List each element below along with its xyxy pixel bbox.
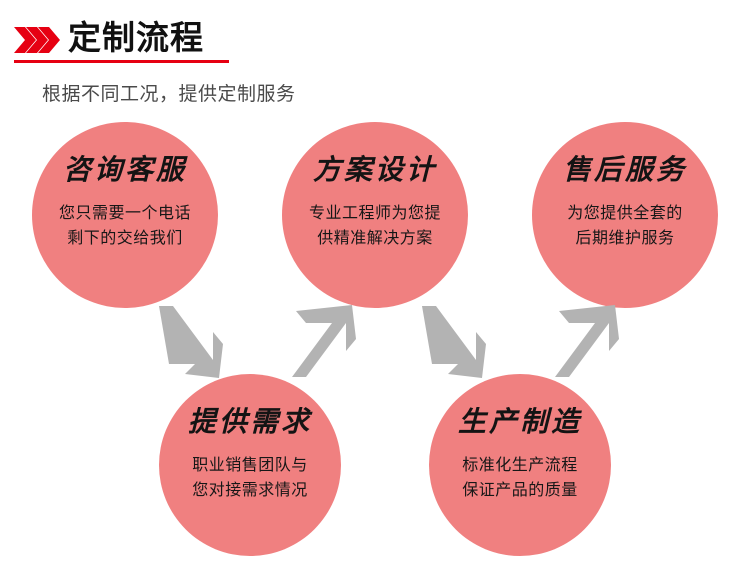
step-desc-line-1: 专业工程师为您提	[309, 200, 441, 225]
step-desc-line-1: 标准化生产流程	[462, 452, 578, 477]
step-desc-line-2: 剩下的交给我们	[67, 225, 183, 250]
title-underline-rule	[14, 60, 229, 63]
flow-step-circle-requirements[interactable]: 提供需求 职业销售团队与 您对接需求情况	[159, 374, 341, 556]
flow-step-circle-design[interactable]: 方案设计 专业工程师为您提 供精准解决方案	[282, 122, 468, 308]
step-title: 售后服务	[563, 154, 687, 186]
step-title: 生产制造	[458, 406, 582, 438]
step-desc-line-2: 后期维护服务	[575, 225, 674, 250]
step-desc-line-2: 保证产品的质量	[462, 477, 578, 502]
step-desc-line-2: 供精准解决方案	[317, 225, 433, 250]
step-title: 提供需求	[188, 406, 312, 438]
flow-step-circle-consulting[interactable]: 咨询客服 您只需要一个电话 剩下的交给我们	[32, 122, 218, 308]
arrow-up-right-icon	[288, 303, 360, 379]
flow-step-circle-after-sales[interactable]: 售后服务 为您提供全套的 后期维护服务	[532, 122, 718, 308]
page-title: 定制流程	[68, 16, 204, 60]
step-title: 咨询客服	[63, 154, 187, 186]
page-header: 定制流程	[14, 14, 434, 66]
arrow-up-right-icon	[551, 303, 623, 379]
flow-step-circle-manufacturing[interactable]: 生产制造 标准化生产流程 保证产品的质量	[429, 374, 611, 556]
step-desc-line-1: 为您提供全套的	[567, 200, 683, 225]
page-subtitle: 根据不同工况，提供定制服务	[42, 81, 296, 108]
step-desc-line-2: 您对接需求情况	[192, 477, 308, 502]
customization-process-infographic: 定制流程 根据不同工况，提供定制服务 咨询客服 您只需要一个电话 剩下的交给我们…	[0, 0, 750, 576]
arrow-down-right-icon	[418, 304, 490, 380]
step-title: 方案设计	[313, 154, 437, 186]
step-desc-line-1: 职业销售团队与	[192, 452, 308, 477]
arrow-down-right-icon	[155, 304, 227, 380]
triple-chevron-right-icon	[14, 27, 60, 53]
step-desc-line-1: 您只需要一个电话	[59, 200, 191, 225]
